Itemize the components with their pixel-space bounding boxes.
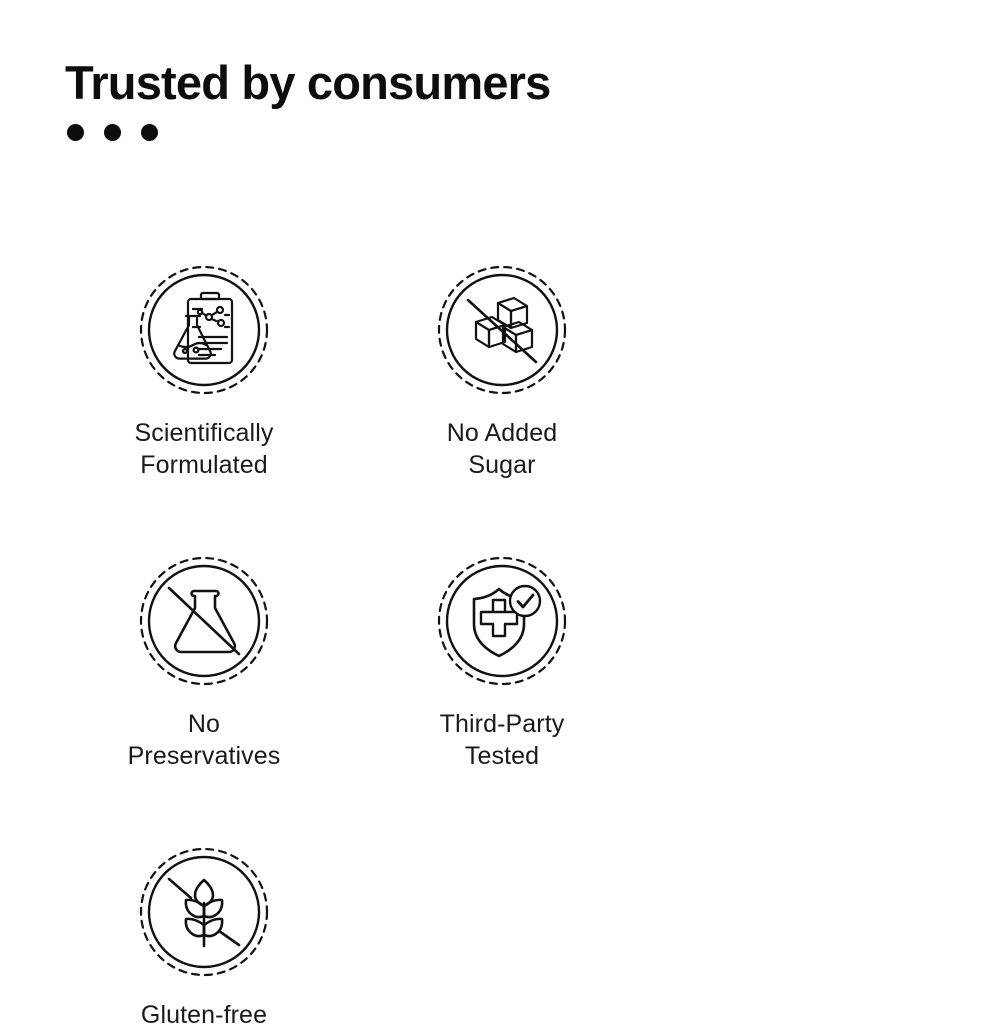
sugar-cubes-icon — [437, 265, 567, 395]
header: Trusted by consumers — [65, 58, 551, 141]
dot-2 — [104, 124, 121, 141]
feature-no-preservatives: No Preservatives — [55, 556, 353, 772]
feature-grid: Scientifically Formulated — [55, 265, 945, 1031]
feature-no-added-sugar: No Added Sugar — [353, 265, 651, 481]
feature-scientifically-formulated: Scientifically Formulated — [55, 265, 353, 481]
feature-gluten-free: Gluten-free — [55, 847, 353, 1031]
feature-third-party-tested: Third-Party Tested — [353, 556, 651, 772]
flask-icon — [139, 556, 269, 686]
feature-label: Third-Party Tested — [440, 708, 565, 772]
decorative-dots — [67, 124, 551, 141]
page-title: Trusted by consumers — [65, 58, 551, 107]
feature-label: Scientifically Formulated — [135, 417, 274, 481]
trust-badges-page: Trusted by consumers — [0, 0, 1000, 1000]
flask-clipboard-icon — [139, 265, 269, 395]
dot-1 — [67, 124, 84, 141]
shield-check-icon — [437, 556, 567, 686]
feature-label: Gluten-free — [141, 999, 267, 1031]
feature-label: No Preservatives — [128, 708, 281, 772]
feature-label: No Added Sugar — [447, 417, 558, 481]
dot-3 — [141, 124, 158, 141]
wheat-icon — [139, 847, 269, 977]
